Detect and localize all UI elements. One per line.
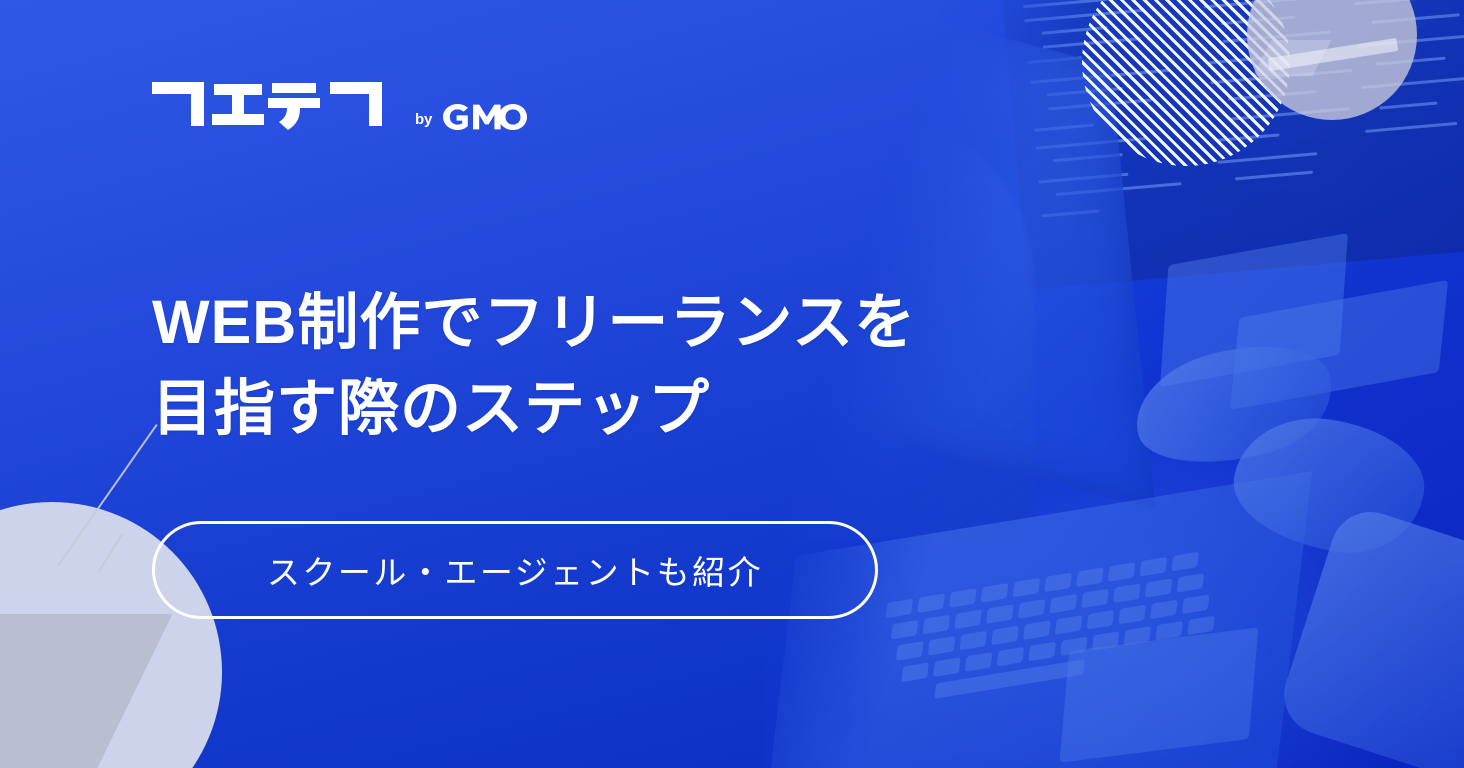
gmo-logo-icon [443, 104, 527, 130]
hero-banner: by WEB制作でフリーランスを 目指す際のステップ スクール・エージェントも紹… [0, 0, 1464, 768]
logo-by-label: by [415, 112, 432, 130]
page-title: WEB制作でフリーランスを 目指す際のステップ [152, 279, 916, 452]
banner-content: by WEB制作でフリーランスを 目指す際のステップ スクール・エージェントも紹… [0, 0, 1000, 768]
subtitle-pill-label: スクール・エージェントも紹介 [267, 546, 763, 594]
headline-line-1: WEB制作でフリーランスを [152, 279, 916, 366]
subtitle-pill-button[interactable]: スクール・エージェントも紹介 [152, 521, 878, 619]
koeteco-logo-mark [152, 82, 404, 130]
koeteco-logo[interactable]: by [152, 82, 527, 130]
headline-line-2: 目指す際のステップ [152, 365, 916, 452]
